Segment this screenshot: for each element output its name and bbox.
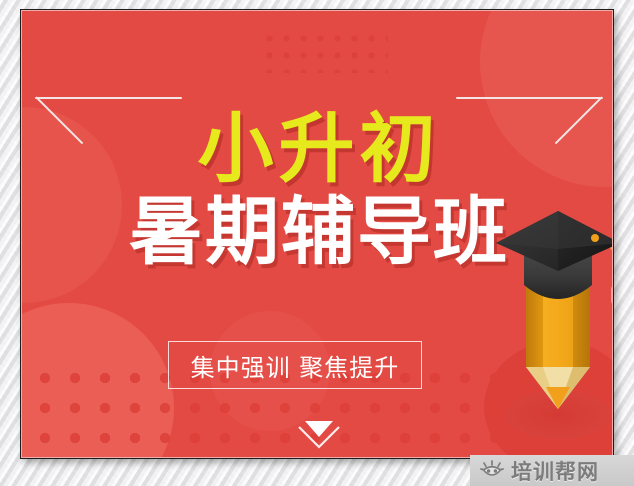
pencil-with-graduation-cap-icon bbox=[494, 201, 613, 451]
corner-bracket-left-icon bbox=[35, 91, 215, 161]
dot-grid-top-icon bbox=[258, 27, 388, 73]
subtitle-text: 集中强训 聚焦提升 bbox=[191, 348, 400, 383]
decor-circle-top-left bbox=[21, 107, 122, 303]
decor-circle-bottom-right bbox=[484, 341, 613, 458]
headline-line-1: 小升初 bbox=[22, 111, 613, 187]
watermark-text: 培训帮网 bbox=[511, 456, 599, 486]
down-arrow-icon bbox=[294, 415, 344, 451]
decor-circle-top-right bbox=[480, 10, 613, 187]
sun-face-icon bbox=[480, 460, 504, 482]
corner-bracket-right-icon bbox=[423, 91, 603, 161]
watermark: 培训帮网 bbox=[470, 455, 634, 486]
headline-line-2: 暑期辅导班 bbox=[22, 195, 613, 269]
decor-circle-bottom-left bbox=[21, 303, 174, 458]
promo-poster: 小升初 暑期辅导班 集中强训 聚焦提升 bbox=[20, 9, 614, 459]
poster-inner-frame: 小升初 暑期辅导班 集中强训 聚焦提升 bbox=[21, 10, 613, 458]
page-background: 小升初 暑期辅导班 集中强训 聚焦提升 bbox=[0, 0, 634, 486]
subtitle-box: 集中强训 聚焦提升 bbox=[168, 341, 422, 389]
poster-headline: 小升初 暑期辅导班 bbox=[22, 111, 613, 269]
